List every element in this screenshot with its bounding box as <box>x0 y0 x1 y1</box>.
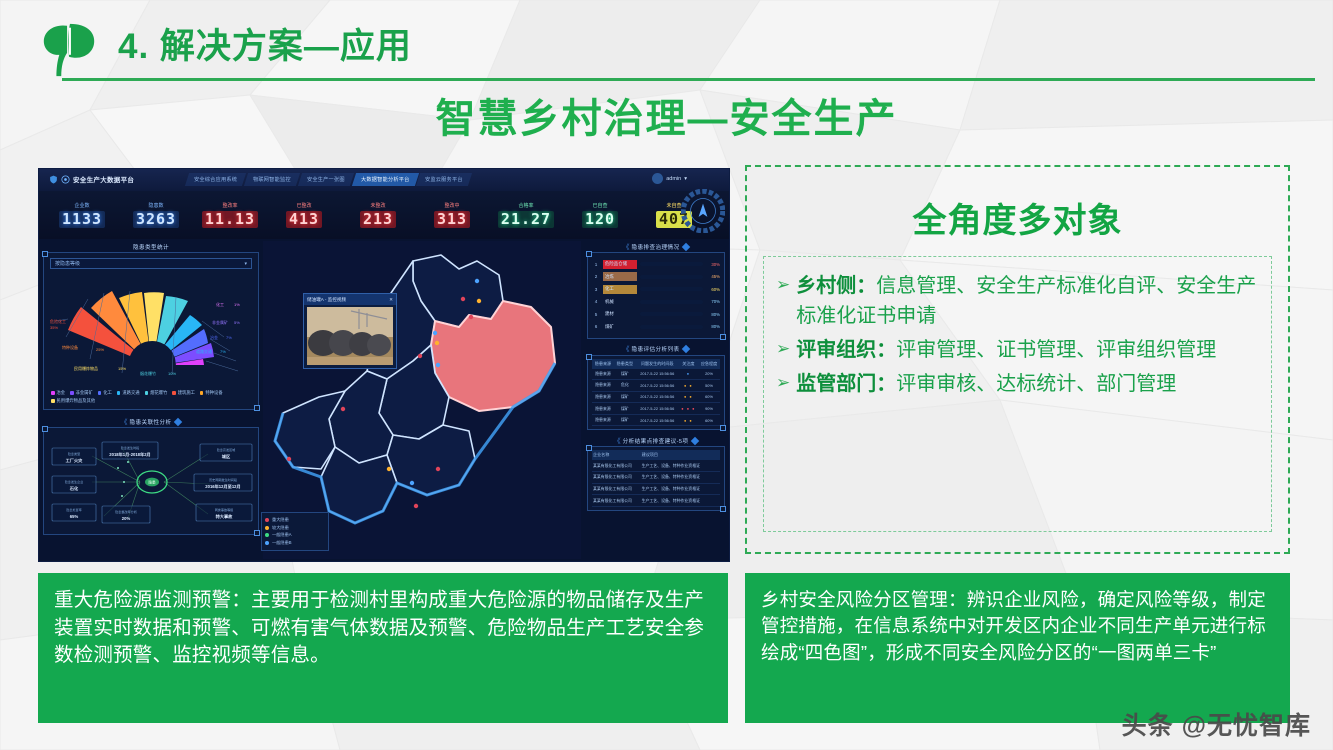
bullet-text-2: 监管部门：评审审核、达标统计、部门管理 <box>796 369 1176 399</box>
map-legend: 重大隐患 较大隐患 一般隐患A 一般隐患B <box>261 512 329 552</box>
rank-panel: 1 危险品仓储 30% 2 冶炼 45% 3 化工 60% 4 机械 <box>587 252 725 339</box>
rank-2-name: 化工 <box>603 285 637 294</box>
chevron-left-icon: 《 <box>623 344 628 354</box>
leaf-icon <box>38 18 100 80</box>
advice-cell-2-1: 生产工艺、设备、特种作业资格证 <box>641 483 720 495</box>
kpi-1-value: 3263 <box>133 211 179 229</box>
camera-popup-title: 储油罐A - 监控视频 <box>307 297 346 303</box>
rose-legend-label-0: 冶金 <box>57 390 66 396</box>
kpi-3: 已整改 413 <box>267 202 341 229</box>
rose-legend-item-0: 冶金 <box>51 390 65 396</box>
graph-panel-title-label: 隐患关联性分析 <box>130 418 172 426</box>
table-row[interactable]: 隐患来源 危化 2017-5-22 15:56:56 ● ● 50% <box>592 380 720 392</box>
user-menu[interactable]: admin ▾ <box>652 173 687 184</box>
kpi-4-value: 213 <box>360 211 396 229</box>
cell-1-0: 隐患来源 <box>592 380 614 392</box>
rank-row: 6 煤矿 80% <box>592 322 720 331</box>
advice-col-0: 企业名称 <box>592 450 641 460</box>
hazard-table: 隐患来源 隐患类型 问题发生的时间段 关注度 应急程度 隐患来源 煤矿 2017… <box>592 359 720 427</box>
kpi-5-label: 整改中 <box>415 202 489 209</box>
rose-legend-item-5: 建筑施工 <box>172 390 195 396</box>
rose-legend-item-7: 民用爆炸物品及其他 <box>51 398 95 404</box>
bullet-body-1: 评审管理、证书管理、评审组织管理 <box>896 339 1216 361</box>
graph-center-label: 隐患 <box>148 480 156 485</box>
rose-pct-7: 1% <box>234 302 240 307</box>
bullet-label-1: 评审组织： <box>796 339 896 361</box>
cell-4-0: 隐患来源 <box>592 414 614 426</box>
dashboard-nav[interactable]: 安全综合应用系统 物联网智能监控 安全生产一张图 大数据智能分析平台 安监云服务… <box>187 173 470 186</box>
cell-1-4: 50% <box>698 380 720 392</box>
cell-2-3: ● ● <box>679 391 698 403</box>
nav-item-1[interactable]: 物联网智能监控 <box>244 173 300 186</box>
advice-panel[interactable]: 企业名称 建议项目 某某有限化工有限公司 生产工艺、设备、特种作业资格证 某某有… <box>587 446 725 510</box>
rose-label-7: 化工 <box>216 301 224 307</box>
kpi-2-label: 整改率 <box>193 202 267 209</box>
nav-item-3-label: 大数据智能分析平台 <box>361 176 410 183</box>
kpi-7-label: 已自查 <box>563 202 637 209</box>
nav-item-1-label: 物联网智能监控 <box>253 176 291 183</box>
rank-1-track <box>640 275 703 279</box>
caption-left: 重大危险源监测预警：主要用于检测村里构成重大危险源的物品储存及生产装置实时数据和… <box>38 573 728 723</box>
cell-3-3: ● ● ● <box>679 403 698 415</box>
diamond-icon <box>682 345 690 353</box>
rank-row: 4 机械 70% <box>592 297 720 306</box>
cell-3-1: 煤矿 <box>614 403 636 415</box>
watermark: 头条 @无忧智库 <box>1122 706 1311 742</box>
bullet-body-2: 评审审核、达标统计、部门管理 <box>896 373 1176 395</box>
rank-4-no: 5 <box>592 312 600 317</box>
bullet-item-1: ➢ 评审组织：评审管理、证书管理、评审组织管理 <box>776 335 1259 365</box>
graph-node-7-label: 同类事故等级 <box>215 507 234 512</box>
arrow-bullet-icon: ➢ <box>776 369 790 399</box>
rose-pct-5: 7% <box>226 335 232 340</box>
rank-panel-title-label: 隐患排查治理情况 <box>632 243 680 251</box>
dashboard-topbar: 安全生产大数据平台 安全综合应用系统 物联网智能监控 安全生产一张图 大数据智能… <box>39 169 729 192</box>
chevron-left-icon: 《 <box>623 242 628 252</box>
table-col-0: 隐患来源 <box>592 359 614 369</box>
rose-panel: 按隐患等级 ▾ <box>43 252 259 410</box>
diamond-icon <box>682 242 690 250</box>
kpi-5: 整改中 313 <box>415 202 489 229</box>
graph-node-0-value: 工厂火灾 <box>66 457 84 464</box>
kpi-6: 合格率 21.27 <box>489 202 563 229</box>
rank-1-pct: 45% <box>706 274 720 279</box>
graph-node-6-value: 20% <box>122 516 131 521</box>
kpi-3-value: 413 <box>286 211 322 229</box>
rose-label-0: 危险化工 <box>50 318 66 324</box>
rose-type-select[interactable]: 按隐患等级 ▾ <box>50 258 252 269</box>
cell-0-1: 煤矿 <box>614 369 636 380</box>
kpi-3-label: 已整改 <box>267 202 341 209</box>
rose-legend-label-2: 化工 <box>103 390 112 396</box>
rank-0-name: 危险品仓储 <box>603 260 637 269</box>
advice-cell-1-1: 生产工艺、设备、特种作业资格证 <box>641 472 720 484</box>
rose-pct-1: 25% <box>96 347 104 352</box>
chevron-left-icon: 《 <box>121 417 126 427</box>
map-legend-label-3: 一般隐患B <box>272 540 292 546</box>
rose-legend-label-1: 非金属矿 <box>76 390 93 396</box>
advice-cell-0-1: 生产工艺、设备、特种作业资格证 <box>641 460 720 471</box>
gear-icon <box>61 175 70 184</box>
dashboard-screenshot: 安全生产大数据平台 安全综合应用系统 物联网智能监控 安全生产一张图 大数据智能… <box>38 168 730 562</box>
cell-3-4: 90% <box>698 403 720 415</box>
rank-0-track <box>640 262 703 266</box>
table-header-row: 隐患来源 隐患类型 问题发生的时间段 关注度 应急程度 <box>592 359 720 369</box>
kpi-5-value: 313 <box>434 211 470 229</box>
rose-legend-item-2: 化工 <box>98 390 112 396</box>
kpi-1-label: 隐患数 <box>119 202 193 209</box>
rose-label-4: 道路交通 <box>196 348 212 354</box>
graph-node-1-label: 隐患发生时段 <box>121 445 140 450</box>
table-row[interactable]: 隐患来源 煤矿 2017-5-22 15:56:56 ● ● ● 90% <box>592 403 720 415</box>
rank-5-track <box>640 325 703 329</box>
rose-legend-item-4: 烟花爆竹 <box>145 390 168 396</box>
nav-item-2[interactable]: 安全生产一张图 <box>298 173 354 186</box>
caption-right: 乡村安全风险分区管理：辨识企业风险，确定风险等级，制定管控措施，在信息系统中对开… <box>745 573 1290 723</box>
dashboard-brand-label: 安全生产大数据平台 <box>73 174 134 184</box>
cell-2-1: 煤矿 <box>614 391 636 403</box>
rank-2-track <box>640 287 703 291</box>
graph-node-3-label: 隐患发生企业 <box>65 479 84 484</box>
camera-photo <box>307 307 393 365</box>
map-legend-label-2: 一般隐患A <box>272 532 292 538</box>
advice-cell-3-0: 某某有限化工有限公司 <box>592 495 641 507</box>
rose-legend-label-6: 特种设备 <box>205 390 222 396</box>
kpi-2-value: 11.13 <box>202 211 258 229</box>
advice-cell-0-0: 某某有限化工有限公司 <box>592 460 641 471</box>
rank-4-pct: 80% <box>706 312 720 317</box>
cell-4-1: 煤矿 <box>614 414 636 426</box>
table-panel[interactable]: 隐患来源 隐患类型 问题发生的时间段 关注度 应急程度 隐患来源 煤矿 2017… <box>587 355 725 431</box>
cell-1-1: 危化 <box>614 380 636 392</box>
table-panel-title: 《 隐患评估分析列表 <box>587 344 725 355</box>
cell-4-2: 2017-5-22 15:56:56 <box>636 414 679 426</box>
cell-2-4: 60% <box>698 391 720 403</box>
advice-panel-title-label: 分析结果点排查建议-5项 <box>623 437 689 445</box>
rank-panel-title: 《 隐患排查治理情况 <box>587 241 725 252</box>
compass-dial-icon <box>681 189 725 233</box>
cell-3-0: 隐患来源 <box>592 403 614 415</box>
arrow-bullet-icon: ➢ <box>776 271 790 331</box>
chevron-down-icon[interactable]: ▾ <box>244 261 247 267</box>
rose-pct-2: 15% <box>118 366 126 371</box>
rank-row: 5 建材 80% <box>592 310 720 319</box>
rose-pct-6: 5% <box>234 320 240 325</box>
rose-legend-item-6: 特种设备 <box>200 390 223 396</box>
cell-4-3: ● ● <box>679 414 698 426</box>
user-avatar-icon <box>652 173 663 184</box>
kpi-6-value: 21.27 <box>498 211 554 229</box>
rose-label-5: 冶金 <box>210 334 218 340</box>
map-legend-label-1: 较大隐患 <box>272 525 289 531</box>
close-icon[interactable]: ✕ <box>389 297 393 303</box>
graph-node-5-label: 隐患处置率 <box>66 507 81 512</box>
camera-popup[interactable]: 储油罐A - 监控视频 ✕ <box>303 293 397 369</box>
kpi-1: 隐患数 3263 <box>119 202 193 229</box>
table-row[interactable]: 隐患来源 煤矿 2017-5-22 15:56:56 ● ● 60% <box>592 414 720 426</box>
table-panel-title-label: 隐患评估分析列表 <box>632 345 680 353</box>
kpi-2: 整改率 11.13 <box>193 202 267 229</box>
advice-cell-3-1: 生产工艺、设备、特种作业资格证 <box>641 495 720 507</box>
advice-row[interactable]: 某某有限化工有限公司 生产工艺、设备、特种作业资格证 <box>592 472 720 484</box>
cell-0-3: ● <box>679 369 698 380</box>
advice-row[interactable]: 某某有限化工有限公司 生产工艺、设备、特种作业资格证 <box>592 495 720 507</box>
graph-panel-title: 《 隐患关联性分析 <box>43 416 259 427</box>
kpi-strip: 企业数 1133 隐患数 3263 整改率 11.13 已整改 413 未整改 … <box>39 191 729 239</box>
nav-item-0-label: 安全综合应用系统 <box>194 176 237 183</box>
cell-0-4: 20% <box>698 369 720 380</box>
arrow-bullet-icon: ➢ <box>776 335 790 365</box>
rose-legend-label-3: 道路交通 <box>122 390 139 396</box>
section-title: 4. 解决方案—应用 <box>118 18 412 69</box>
bullet-text-1: 评审组织：评审管理、证书管理、评审组织管理 <box>796 335 1216 365</box>
rank-3-track <box>640 300 703 304</box>
rank-5-pct: 80% <box>706 324 720 329</box>
graph-node-7-value: 特大事故 <box>216 513 234 520</box>
rose-pct-4: 7% <box>220 349 226 354</box>
bullet-item-2: ➢ 监管部门：评审审核、达标统计、部门管理 <box>776 369 1259 399</box>
table-col-1: 隐患类型 <box>614 359 636 369</box>
graph-panel: 隐患 隐患类型 隐患发生企业 隐患处置率 隐患发生时段 隐患整改率分 <box>43 427 259 535</box>
rose-legend-label-5: 建筑施工 <box>178 390 195 396</box>
graph-node-4-value: 2016年12月至12月 <box>205 483 240 490</box>
rank-row: 2 冶炼 45% <box>592 272 720 281</box>
nav-item-2-label: 安全生产一张图 <box>307 176 345 183</box>
rose-label-6: 非金属矿 <box>212 319 228 325</box>
nav-item-0[interactable]: 安全综合应用系统 <box>185 173 246 186</box>
graph-node-5-value: 65% <box>70 514 79 519</box>
rose-pct-0: 35% <box>50 325 58 330</box>
cell-2-0: 隐患来源 <box>592 391 614 403</box>
diamond-icon <box>174 417 182 425</box>
kpi-4: 未整改 213 <box>341 202 415 229</box>
kpi-7-value: 120 <box>582 211 618 229</box>
bullet-label-0: 乡村侧： <box>796 275 876 297</box>
cell-1-3: ● ● <box>679 380 698 392</box>
rank-row: 3 化工 60% <box>592 285 720 294</box>
advice-cell-1-0: 某某有限化工有限公司 <box>592 472 641 484</box>
cell-3-2: 2017-5-22 15:56:56 <box>636 403 679 415</box>
table-row[interactable]: 隐患来源 煤矿 2017-5-22 15:56:56 ● ● 60% <box>592 391 720 403</box>
rank-0-no: 1 <box>592 262 600 267</box>
user-name: admin <box>666 176 681 182</box>
rose-type-select-value: 按隐患等级 <box>55 260 80 267</box>
table-col-2: 问题发生的时间段 <box>636 359 679 369</box>
rank-2-pct: 60% <box>706 287 720 292</box>
cell-4-4: 60% <box>698 414 720 426</box>
kpi-0-value: 1133 <box>59 211 105 229</box>
rank-1-no: 2 <box>592 274 600 279</box>
dashboard-brand: 安全生产大数据平台 <box>49 174 134 184</box>
rose-panel-title-label: 隐患类型统计 <box>133 243 169 251</box>
page-title: 智慧乡村治理—安全生产 <box>0 86 1333 144</box>
rose-label-2: 民用爆炸物品 <box>74 365 98 371</box>
graph-node-6-label: 隐患整改率分析 <box>115 509 137 514</box>
page-header: 4. 解决方案—应用 <box>0 0 1333 92</box>
nav-item-3[interactable]: 大数据智能分析平台 <box>351 173 418 186</box>
graph-node-2-label: 隐患高发区域 <box>217 447 236 452</box>
map-legend-item-2: 一般隐患A <box>265 532 325 538</box>
kpi-0-label: 企业数 <box>45 202 119 209</box>
rank-3-name: 机械 <box>603 297 637 306</box>
kpi-4-label: 未整改 <box>341 202 415 209</box>
dashboard-right-column: 《 隐患排查治理情况 1 危险品仓储 30% 2 冶炼 45% 3 化工 60% <box>587 241 725 511</box>
info-card-body: ➢ 乡村侧：信息管理、安全生产标准化自评、安全生产标准化证书申请 ➢ 评审组织：… <box>763 256 1272 532</box>
cell-0-0: 隐患来源 <box>592 369 614 380</box>
rose-legend-label-4: 烟花爆竹 <box>150 390 167 396</box>
table-col-4: 应急程度 <box>698 359 720 369</box>
rose-legend: 冶金 非金属矿 化工 道路交通 烟花爆竹 建筑施工 特种设备 民用爆炸物品及其他 <box>44 387 258 409</box>
map-legend-item-0: 重大隐患 <box>265 517 325 523</box>
advice-header-row: 企业名称 建议项目 <box>592 450 720 460</box>
rose-pct-3: 10% <box>168 371 176 376</box>
cell-2-2: 2017-5-22 15:56:56 <box>636 391 679 403</box>
rank-5-name: 煤矿 <box>603 322 637 331</box>
diamond-icon <box>691 437 699 445</box>
map-legend-label-0: 重大隐患 <box>272 517 289 523</box>
nav-item-4-label: 安监云服务平台 <box>425 176 463 183</box>
advice-cell-2-0: 某某有限化工有限公司 <box>592 483 641 495</box>
rank-3-no: 4 <box>592 299 600 304</box>
rank-1-name: 冶炼 <box>603 272 637 281</box>
bullet-label-2: 监管部门： <box>796 373 896 395</box>
kpi-6-label: 合格率 <box>489 202 563 209</box>
kpi-0: 企业数 1133 <box>45 202 119 229</box>
graph-node-3-value: 石化 <box>69 485 79 492</box>
shield-icon <box>49 175 58 184</box>
rose-label-1: 特种设备 <box>62 344 78 350</box>
rank-5-no: 6 <box>592 324 600 329</box>
map-panel[interactable]: 储油罐A - 监控视频 ✕ 重大隐患 <box>263 241 581 559</box>
info-card-heading: 全角度多对象 <box>763 193 1272 242</box>
table-row[interactable]: 隐患来源 煤矿 2017-5-22 15:56:56 ● 20% <box>592 369 720 380</box>
info-card: 全角度多对象 ➢ 乡村侧：信息管理、安全生产标准化自评、安全生产标准化证书申请 … <box>745 165 1290 554</box>
rank-0-pct: 30% <box>706 262 720 267</box>
cell-0-2: 2017-5-22 15:56:56 <box>636 369 679 380</box>
cell-1-2: 2017-5-22 15:56:56 <box>636 380 679 392</box>
graph-node-4-label: 历史同期发生时间段 <box>209 477 237 482</box>
rank-row: 1 危险品仓储 30% <box>592 260 720 269</box>
rank-4-track <box>640 312 703 316</box>
graph-node-0-label: 隐患类型 <box>68 451 80 456</box>
bullet-item-0: ➢ 乡村侧：信息管理、安全生产标准化自评、安全生产标准化证书申请 <box>776 271 1259 331</box>
kpi-7: 已自查 120 <box>563 202 637 229</box>
advice-panel-title: 《 分析结果点排查建议-5项 <box>587 435 725 446</box>
advice-col-1: 建议项目 <box>641 450 720 460</box>
nav-item-4[interactable]: 安监云服务平台 <box>416 173 472 186</box>
graph-node-1-value: 2018年1月-2018年2月 <box>109 451 150 458</box>
rose-legend-item-1: 非金属矿 <box>70 390 93 396</box>
table-col-3: 关注度 <box>679 359 698 369</box>
header-divider <box>62 78 1315 81</box>
advice-table: 企业名称 建议项目 某某有限化工有限公司 生产工艺、设备、特种作业资格证 某某有… <box>592 450 720 506</box>
advice-row[interactable]: 某某有限化工有限公司 生产工艺、设备、特种作业资格证 <box>592 460 720 471</box>
map-legend-item-3: 一般隐患B <box>265 540 325 546</box>
rank-4-name: 建材 <box>603 310 637 319</box>
rose-panel-title: 隐患类型统计 <box>43 241 259 252</box>
graph-node-2-value: 城区 <box>222 453 231 460</box>
rose-chart: 危险化工 35% 特种设备 25% 民用爆炸物品 15% 烟花爆竹 10% 道路… <box>44 269 258 387</box>
chevron-down-icon[interactable]: ▾ <box>684 176 687 182</box>
map-legend-item-1: 较大隐患 <box>265 525 325 531</box>
rank-3-pct: 70% <box>706 299 720 304</box>
bullet-text-0: 乡村侧：信息管理、安全生产标准化自评、安全生产标准化证书申请 <box>796 271 1259 331</box>
chevron-left-icon: 《 <box>614 436 619 446</box>
camera-popup-titlebar: 储油罐A - 监控视频 ✕ <box>304 294 396 305</box>
rose-legend-label-7: 民用爆炸物品及其他 <box>57 398 96 404</box>
rose-legend-item-3: 道路交通 <box>117 390 140 396</box>
advice-row[interactable]: 某某有限化工有限公司 生产工艺、设备、特种作业资格证 <box>592 483 720 495</box>
dashboard-left-column: 隐患类型统计 按隐患等级 ▾ <box>43 241 259 535</box>
rose-label-3: 烟花爆竹 <box>140 370 156 376</box>
rank-2-no: 3 <box>592 287 600 292</box>
